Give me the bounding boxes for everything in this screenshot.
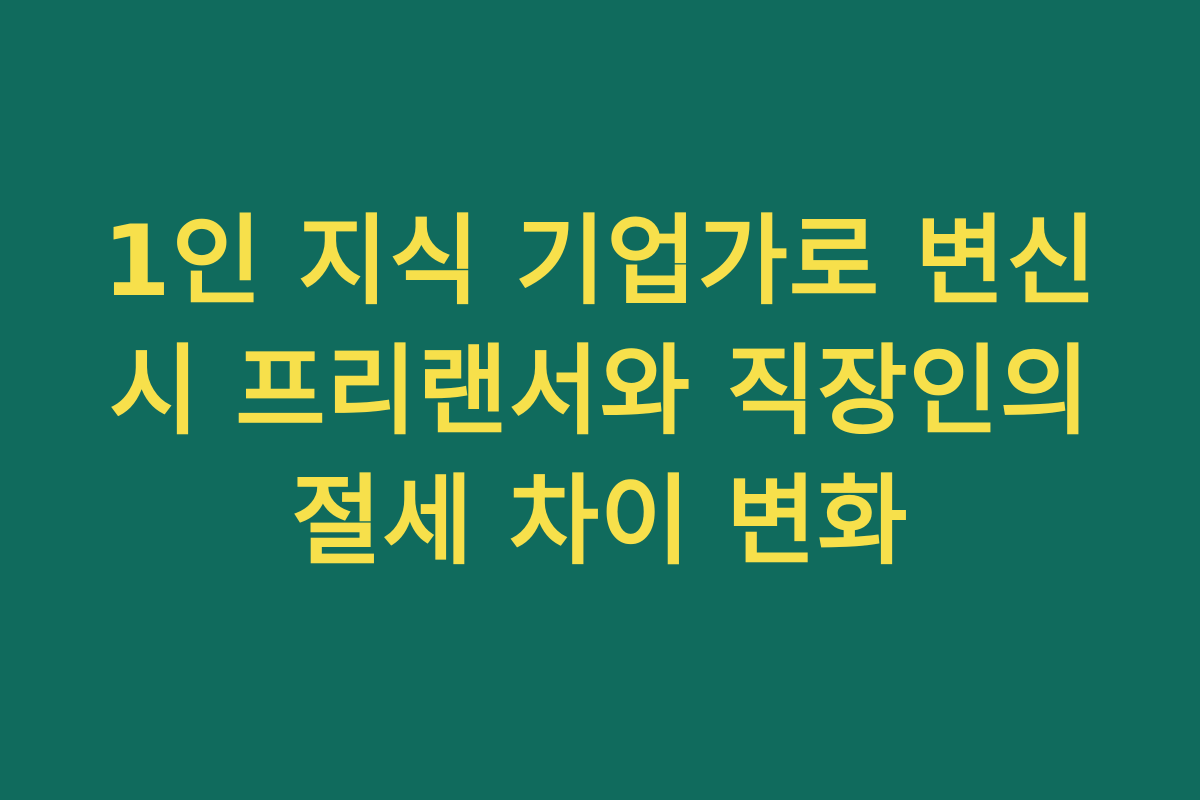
thumbnail-card: 1인 지식 기업가로 변신 시 프리랜서와 직장인의 절세 차이 변화	[0, 0, 1200, 800]
title-line-1: 1인 지식 기업가로 변신	[103, 197, 1098, 327]
title-block: 1인 지식 기업가로 변신 시 프리랜서와 직장인의 절세 차이 변화	[55, 197, 1145, 587]
title-line-2: 시 프리랜서와 직장인의	[109, 327, 1091, 457]
title-line-3: 절세 차이 변화	[291, 457, 908, 587]
